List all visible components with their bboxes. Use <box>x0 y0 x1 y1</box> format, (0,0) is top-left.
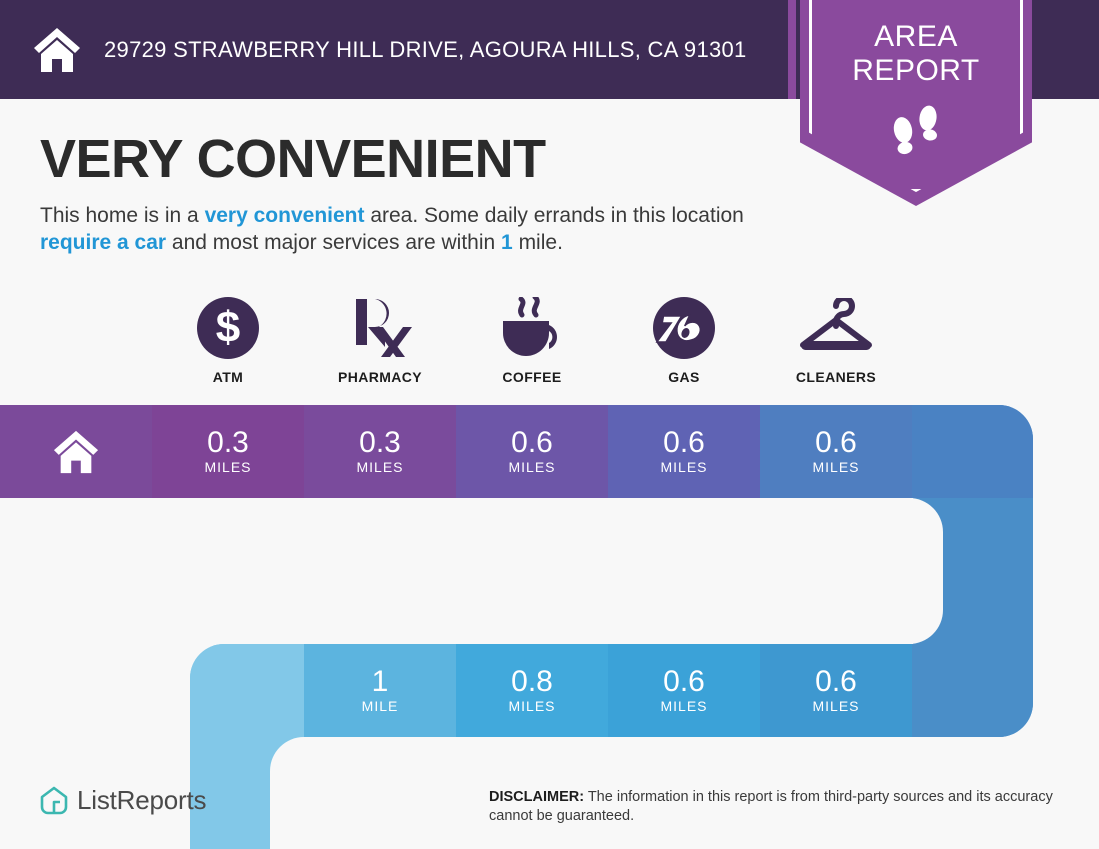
distance-cell-coffee: 0.6 MILES <box>456 405 608 498</box>
badge-title-line2: REPORT <box>852 54 979 87</box>
distance-cell-groceries: 0.8 MILES <box>456 644 608 737</box>
summary-part-3: and most major services are within <box>166 231 501 254</box>
distance-cell-movie-theater: 1 MILE <box>304 644 456 737</box>
summary-highlight-1: very convenient <box>205 204 365 227</box>
amenity-label: ATM <box>152 369 304 385</box>
distance-unit: MILES <box>812 698 859 714</box>
amenity-cleaners: CLEANERS <box>760 295 912 385</box>
dollar-circle-icon: $ <box>152 295 304 361</box>
distance-cell-gym: 0.6 MILES <box>760 644 912 737</box>
distance-row-1-tail <box>912 405 1033 498</box>
gas-76-icon <box>608 295 760 361</box>
distance-cell-pharmacy: 0.3 MILES <box>304 405 456 498</box>
disclaimer-label: DISCLAIMER: <box>489 789 584 805</box>
distance-cell-medical: 0.6 MILES <box>608 644 760 737</box>
distance-row-1: 0.3 MILES 0.3 MILES 0.6 MILES 0.6 MILES … <box>0 405 1099 498</box>
distance-unit: MILES <box>508 698 555 714</box>
area-report-badge: AREA REPORT <box>800 0 1032 206</box>
summary-part-4: mile. <box>513 231 563 254</box>
header-content: 29729 STRAWBERRY HILL DRIVE, AGOURA HILL… <box>0 0 788 99</box>
distance-row-2-tail <box>912 644 1033 737</box>
hanger-icon <box>760 295 912 361</box>
origin-home-cell <box>0 405 152 498</box>
distance-unit: MILES <box>204 459 251 475</box>
home-icon <box>50 429 102 475</box>
middle-cutout-card <box>0 498 943 644</box>
distance-unit: MILES <box>660 459 707 475</box>
svg-text:$: $ <box>216 303 240 352</box>
distance-value: 0.6 <box>815 667 857 697</box>
summary-paragraph: This home is in a very convenient area. … <box>40 202 780 256</box>
distance-unit: MILES <box>356 459 403 475</box>
badge-title: AREA REPORT <box>800 20 1032 88</box>
summary-part-1: This home is in a <box>40 204 205 227</box>
distance-unit: MILES <box>660 698 707 714</box>
summary-highlight-2: require a car <box>40 231 166 254</box>
distance-value: 0.3 <box>359 428 401 458</box>
disclaimer: DISCLAIMER: The information in this repo… <box>489 788 1064 826</box>
amenity-gas: GAS <box>608 295 760 385</box>
summary-highlight-3: 1 <box>501 231 513 254</box>
amenity-label: CLEANERS <box>760 369 912 385</box>
rx-icon <box>304 295 456 361</box>
property-address: 29729 STRAWBERRY HILL DRIVE, AGOURA HILL… <box>104 37 747 63</box>
distance-row-2-head <box>190 644 312 737</box>
distance-value: 0.6 <box>663 667 705 697</box>
distance-cell-cleaners: 0.6 MILES <box>760 405 912 498</box>
header-accent-strip <box>788 0 796 99</box>
listreports-logo-icon <box>40 786 68 816</box>
amenity-atm: $ ATM <box>152 295 304 385</box>
distance-value: 0.6 <box>815 428 857 458</box>
distance-value: 0.6 <box>663 428 705 458</box>
listreports-logo: ListReports <box>40 785 206 816</box>
distance-unit: MILES <box>508 459 555 475</box>
amenity-label: COFFEE <box>456 369 608 385</box>
distance-snake: 0.3 MILES 0.3 MILES 0.6 MILES 0.6 MILES … <box>0 405 1099 849</box>
distance-row-2: 1 MILE 0.8 MILES 0.6 MILES 0.6 MILES <box>0 644 1099 737</box>
amenity-label: GAS <box>608 369 760 385</box>
distance-value: 0.3 <box>207 428 249 458</box>
amenity-icons-row-1: $ ATM PHARMACY <box>0 295 1099 395</box>
amenity-coffee: COFFEE <box>456 295 608 385</box>
badge-title-line1: AREA <box>874 20 958 53</box>
distance-unit: MILE <box>362 698 399 714</box>
page-title: VERY CONVENIENT <box>40 128 546 190</box>
amenity-pharmacy: PHARMACY <box>304 295 456 385</box>
distance-value: 0.6 <box>511 428 553 458</box>
distance-value: 0.8 <box>511 667 553 697</box>
coffee-cup-icon <box>456 295 608 361</box>
summary-part-2: area. Some daily errands in this locatio… <box>364 204 743 227</box>
area-report-page: 29729 STRAWBERRY HILL DRIVE, AGOURA HILL… <box>0 0 1099 849</box>
footprints-icon <box>886 100 946 160</box>
distance-unit: MILES <box>812 459 859 475</box>
distance-cell-atm: 0.3 MILES <box>152 405 304 498</box>
listreports-logo-text: ListReports <box>77 785 206 816</box>
home-icon <box>32 26 82 74</box>
distance-cell-gas: 0.6 MILES <box>608 405 760 498</box>
amenity-label: PHARMACY <box>304 369 456 385</box>
distance-value: 1 <box>372 667 389 697</box>
